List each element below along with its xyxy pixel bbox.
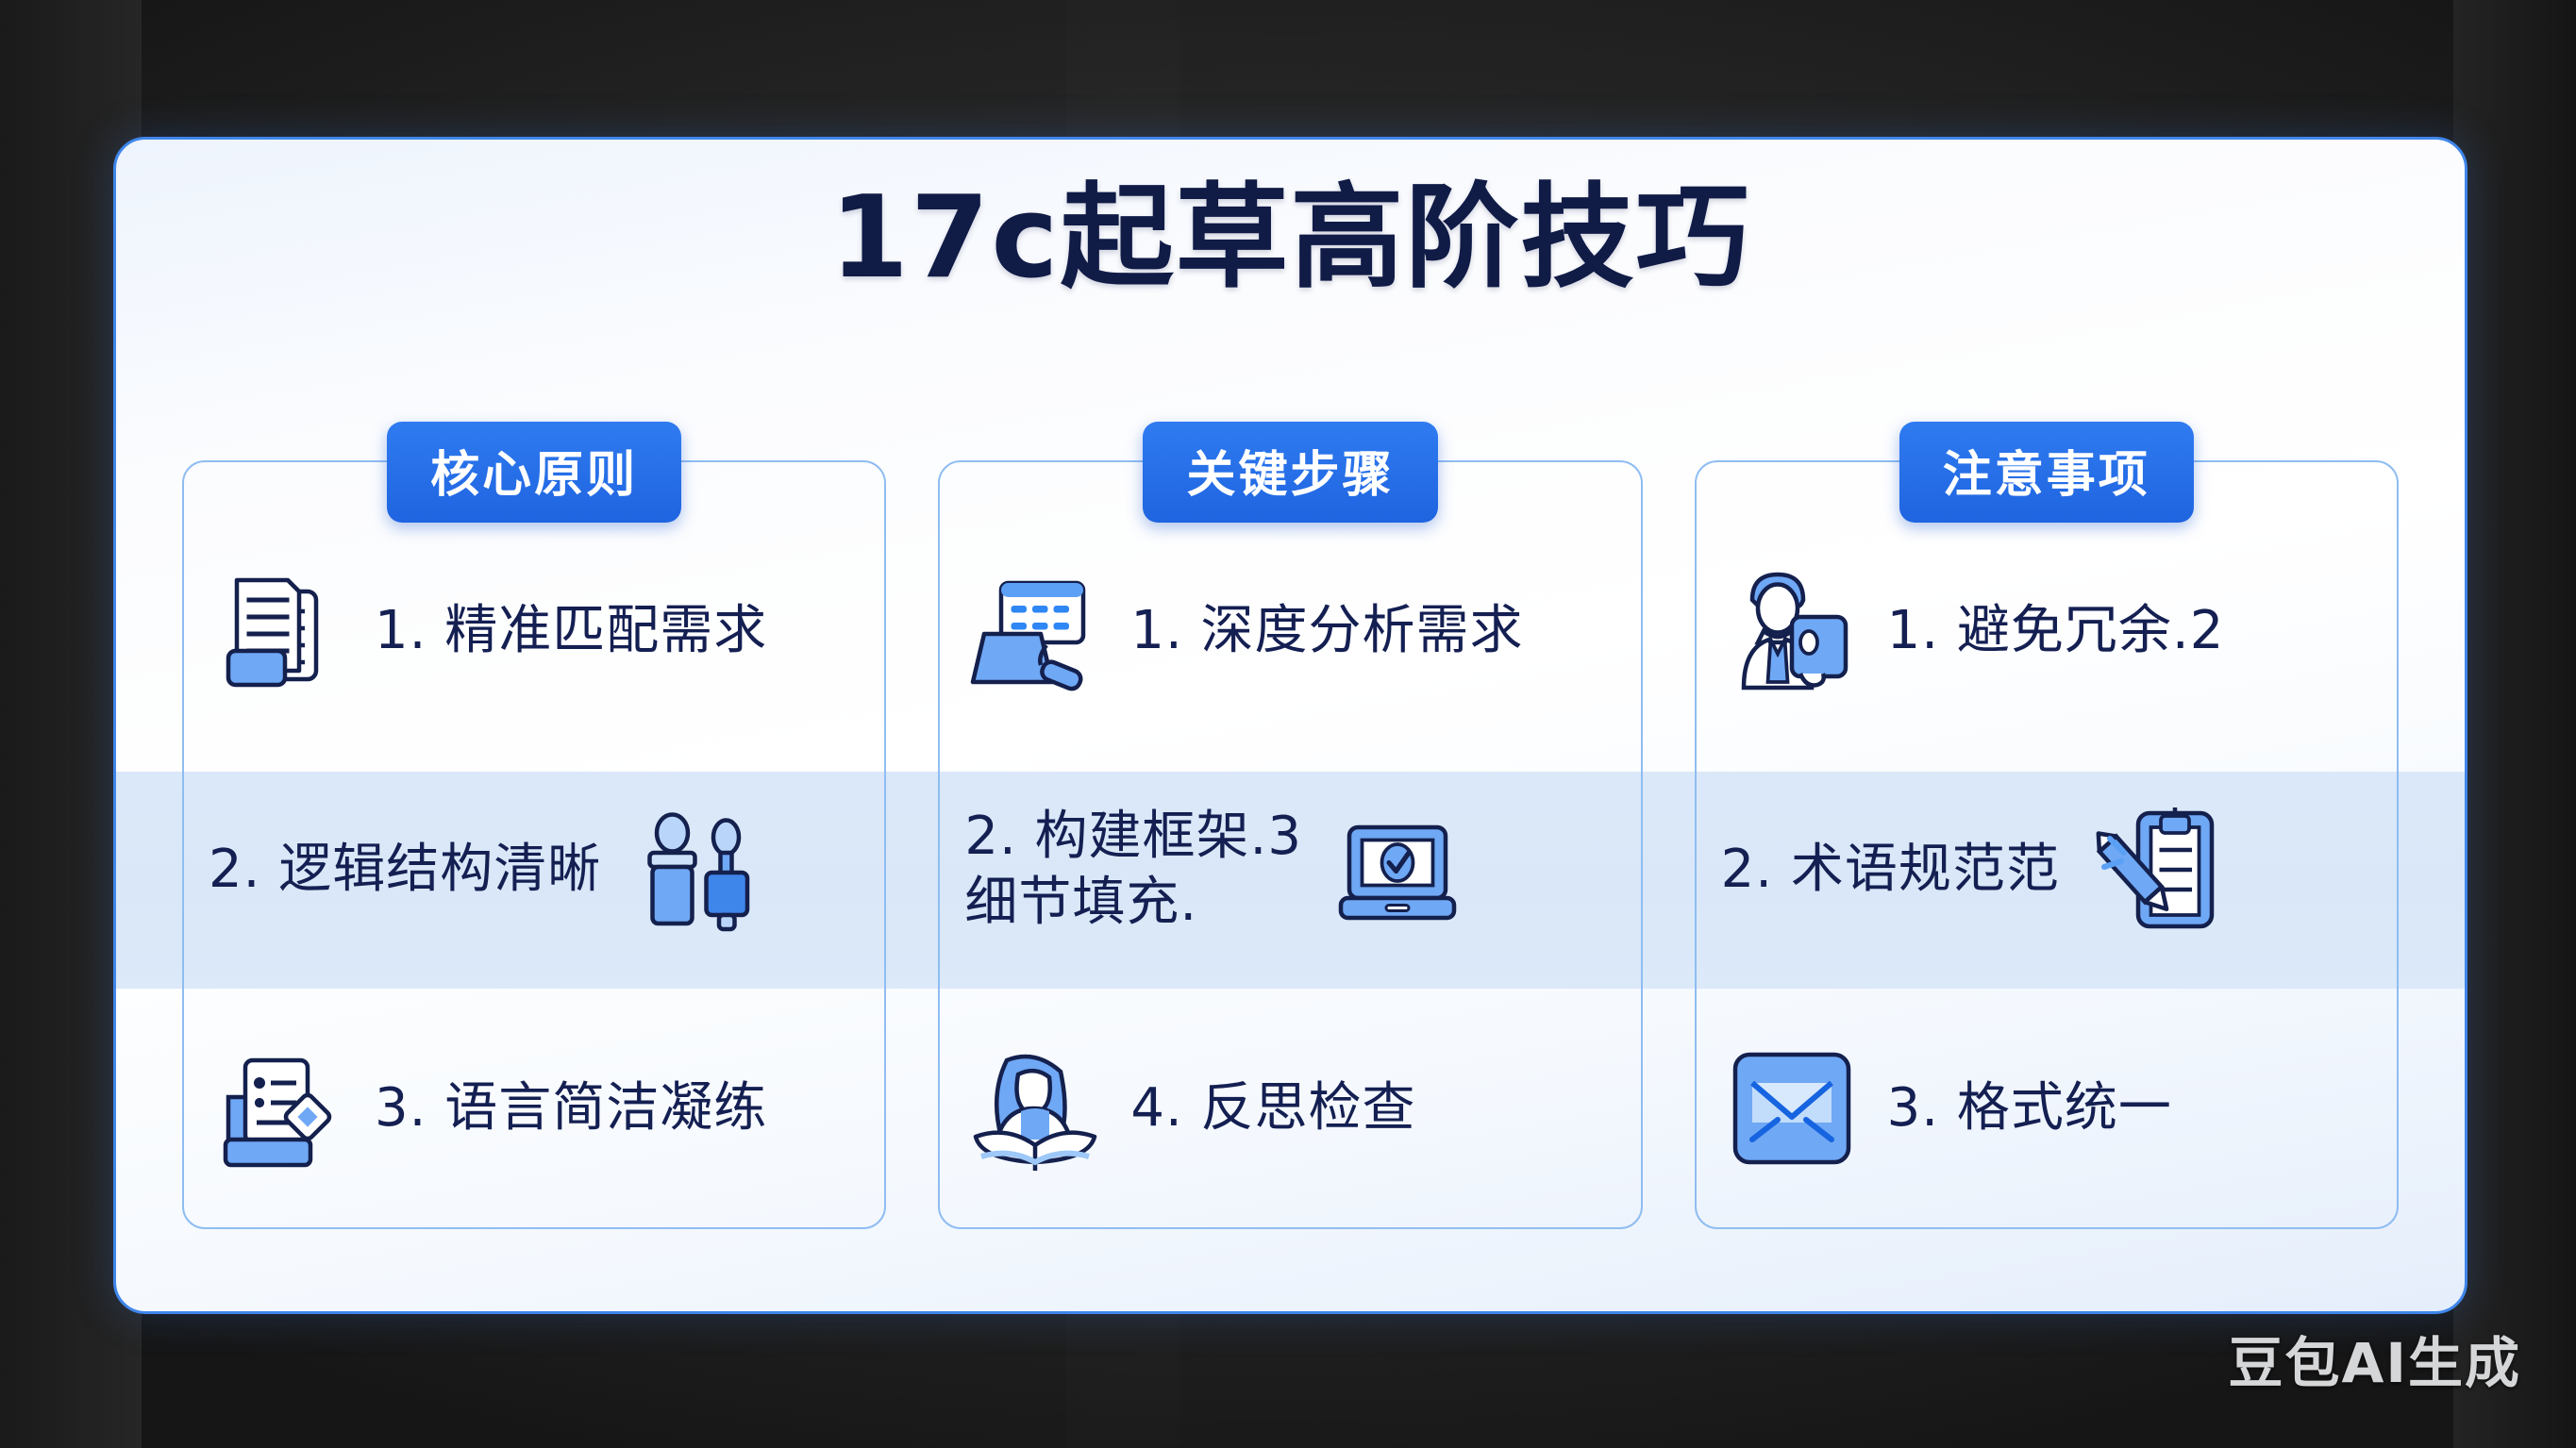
watermark-label: 豆包AI生成 (2229, 1319, 2521, 1398)
person-tablet-icon (1721, 560, 1863, 702)
list-item[interactable]: 3. 格式统一 (1697, 989, 2397, 1227)
background-band-right (2453, 0, 2576, 1448)
list-item[interactable]: 2. 逻辑结构清晰 (184, 750, 884, 989)
list-item[interactable]: 1. 避免冗余.2 (1697, 511, 2397, 750)
list-item-label: 1. 深度分析需求 (1130, 598, 1523, 664)
clipboard-pencil-icon (2084, 799, 2226, 940)
page-title: 17c起草高阶技巧 (116, 175, 2465, 302)
presentation-laptop-icon (964, 560, 1106, 702)
column-rows: 1. 深度分析需求 (940, 511, 1640, 1227)
list-item[interactable]: 1. 深度分析需求 (940, 511, 1640, 750)
documents-icon (209, 560, 350, 702)
list-item-label: 3. 格式统一 (1887, 1075, 2172, 1141)
list-item-label: 2. 构建框架.3 细节填充. (964, 804, 1302, 936)
infographic-canvas: 17c起草高阶技巧 核心原则 (0, 0, 2576, 1448)
list-item-label: 2. 术语规范范 (1721, 837, 2060, 903)
column-header-badge: 注意事项 (1899, 422, 2194, 523)
column-key-steps: 关键步骤 (938, 460, 1642, 1229)
list-item-label: 1. 精准匹配需求 (375, 598, 767, 664)
column-rows: 1. 避免冗余.2 (1697, 511, 2397, 1227)
column-header-badge: 核心原则 (387, 422, 681, 523)
column-precautions: 注意事项 (1695, 460, 2399, 1229)
list-item-label: 2. 逻辑结构清晰 (209, 837, 601, 903)
list-item[interactable]: 1. 精准匹配需求 (184, 511, 884, 750)
podium-people-icon (626, 799, 767, 940)
list-item[interactable]: 3. 语言简洁凝练 (184, 989, 884, 1227)
person-reading-icon (964, 1038, 1106, 1179)
list-item[interactable]: 4. 反思检查 (940, 989, 1640, 1227)
document-tag-icon (209, 1038, 350, 1179)
envelope-message-icon (1721, 1038, 1863, 1179)
column-core-principles: 核心原则 (182, 460, 886, 1229)
list-item-label: 1. 避免冗余.2 (1887, 598, 2225, 664)
list-item[interactable]: 2. 构建框架.3 细节填充. (940, 750, 1640, 989)
columns-container: 核心原则 (116, 460, 2465, 1229)
column-rows: 1. 精准匹配需求 (184, 511, 884, 1227)
infographic-card: 17c起草高阶技巧 核心原则 (113, 137, 2467, 1314)
column-header-badge: 关键步骤 (1143, 422, 1437, 523)
list-item[interactable]: 2. 术语规范范 (1697, 750, 2397, 989)
list-item-label: 4. 反思检查 (1130, 1075, 1415, 1141)
laptop-check-icon (1327, 799, 1468, 940)
list-item-label: 3. 语言简洁凝练 (375, 1075, 767, 1141)
